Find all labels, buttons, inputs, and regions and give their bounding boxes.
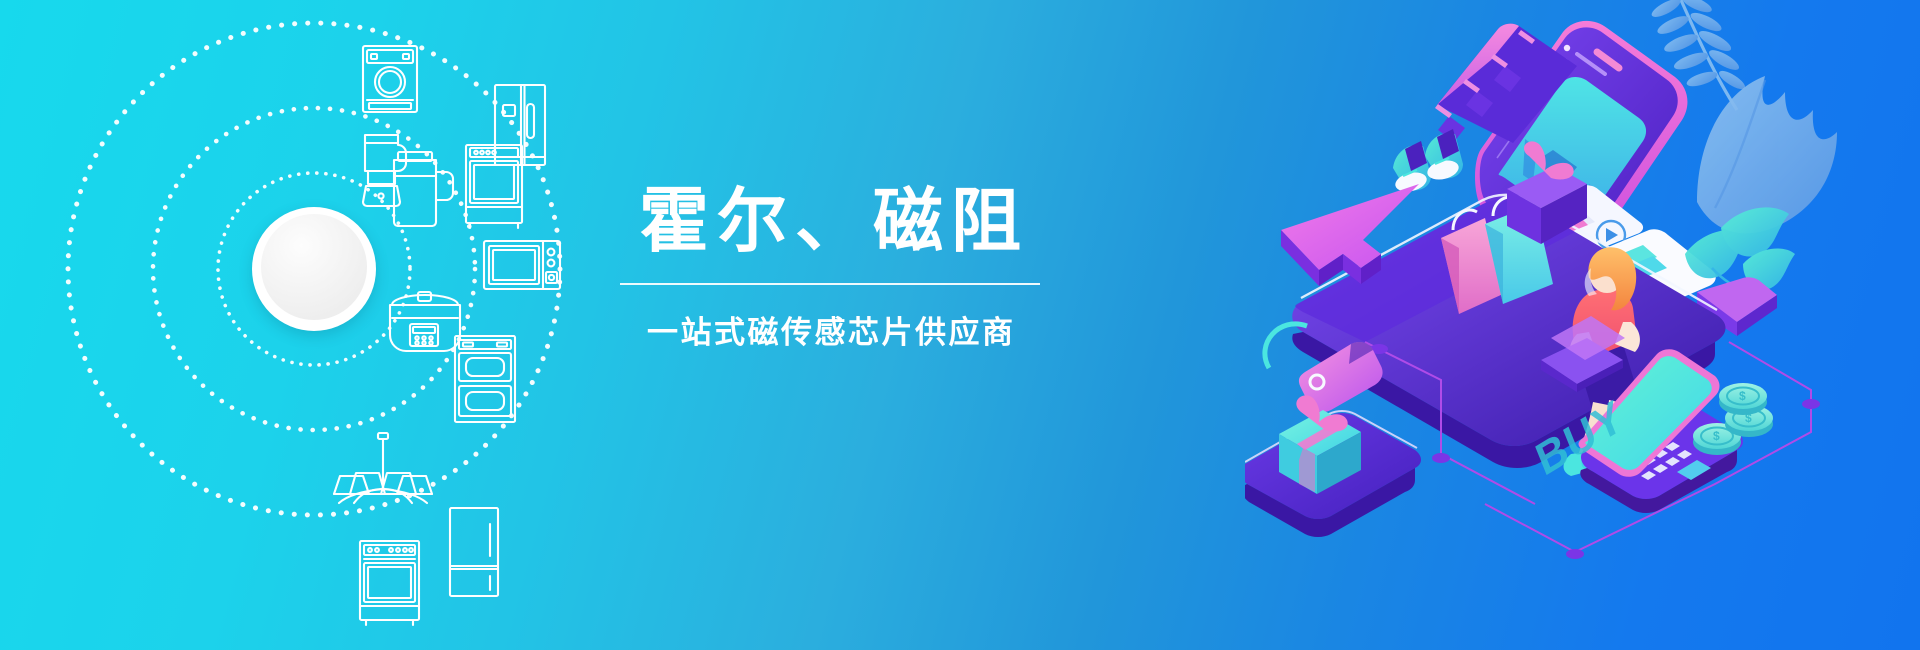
range-oven-icon [466, 145, 522, 228]
refrigerator-side-by-side-icon [495, 85, 545, 165]
banner-copy-block: 霍尔、磁阻 一站式磁传感芯片供应商 [620, 186, 1040, 352]
blender-icon [363, 135, 406, 206]
appliance-orbit-diagram [0, 0, 680, 650]
svg-text:$: $ [1739, 389, 1746, 403]
chandelier-icon [334, 433, 432, 503]
title-divider [620, 283, 1040, 285]
double-wall-oven-icon [455, 336, 515, 422]
page-title: 霍尔、磁阻 [620, 186, 1040, 257]
gas-stove-icon [360, 541, 419, 625]
hero-banner: 霍尔、磁阻 一站式磁传感芯片供应商 [0, 0, 1920, 650]
microwave-oven-icon [484, 241, 560, 289]
bottom-freezer-fridge-icon [450, 508, 498, 596]
svg-text:$: $ [1713, 429, 1720, 443]
isometric-ecommerce-illustration: BUY $ $ [1245, 0, 1920, 650]
sneaker-pair [1393, 129, 1463, 195]
page-subtitle: 一站式磁传感芯片供应商 [620, 307, 1040, 352]
rice-cooker-icon [390, 292, 460, 351]
washing-machine-icon [363, 46, 417, 112]
center-hub-disc [252, 207, 376, 331]
electric-kettle-icon [394, 152, 453, 226]
